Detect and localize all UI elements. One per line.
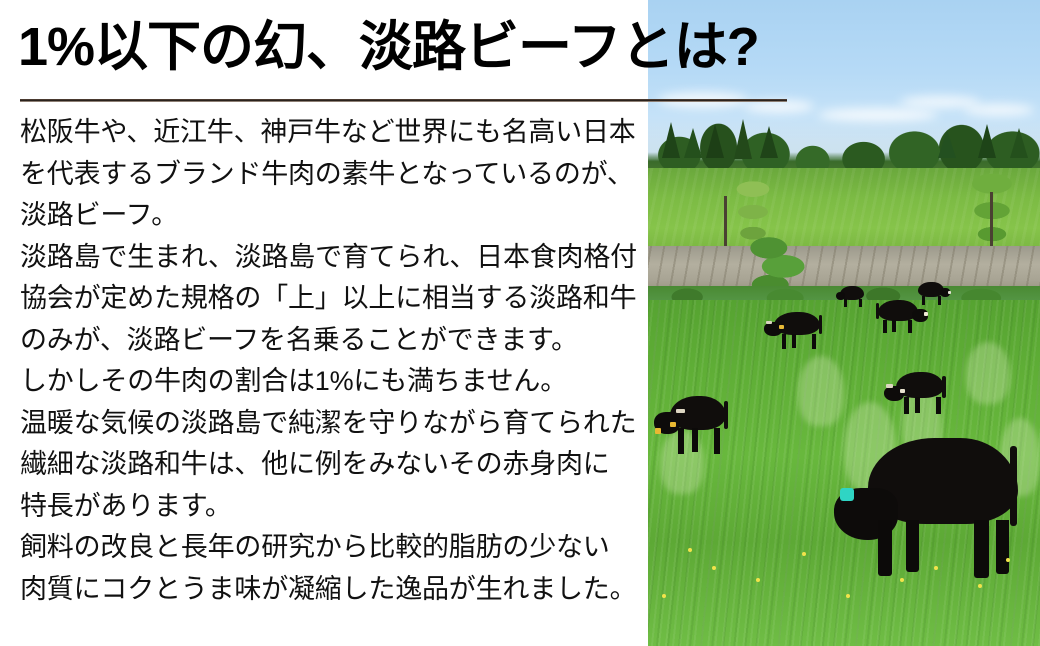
body-copy: 松阪牛や、近江牛、神戸牛など世界にも名高い日本 を代表するブランド牛肉の素牛とな… — [20, 112, 640, 610]
cow — [654, 396, 732, 458]
flower-icon — [900, 578, 904, 582]
body-line: 肉質にコクとうま味が凝縮した逸品が生れました。 — [20, 569, 640, 611]
grass-tussock — [966, 342, 1010, 404]
flower-icon — [934, 566, 938, 570]
body-line: 飼料の改良と長年の研究から比較的脂肪の少ない — [20, 527, 640, 569]
page-title: 1%以下の幻、淡路ビーフとは? — [18, 16, 759, 78]
flower-icon — [1006, 558, 1010, 562]
promo-page: 1%以下の幻、淡路ビーフとは? 松阪牛や、近江牛、神戸牛など世界にも名高い日本 … — [0, 0, 1040, 646]
conifer-icon — [1010, 128, 1028, 158]
cow — [884, 372, 948, 416]
conifer-icon — [760, 126, 778, 158]
body-line: 淡路ビーフ。 — [20, 195, 640, 237]
flower-icon — [688, 548, 692, 552]
conifer-icon — [978, 124, 996, 158]
cow — [764, 312, 826, 350]
body-line: 淡路島で生まれ、淡路島で育てられ、日本食肉格付 — [20, 237, 640, 279]
body-line: 特長があります。 — [20, 486, 640, 528]
pasture-photo — [648, 0, 1040, 646]
cow — [876, 300, 930, 334]
cow-foreground — [834, 438, 1028, 580]
flower-icon — [662, 594, 666, 598]
flower-icon — [802, 552, 806, 556]
body-line: 温暖な気候の淡路島で純潔を守りながら育てられた — [20, 403, 640, 445]
flower-icon — [756, 578, 760, 582]
flower-icon — [846, 594, 850, 598]
body-line: のみが、淡路ビーフを名乗ることができます。 — [20, 320, 640, 362]
cloud-icon — [964, 104, 1034, 116]
ear-tag-icon — [840, 488, 854, 501]
conifer-icon — [684, 128, 702, 158]
flower-icon — [712, 566, 716, 570]
cow — [836, 286, 866, 308]
conifer-icon — [706, 124, 724, 158]
body-line: 協会が定めた規格の「上」以上に相当する淡路和牛 — [20, 278, 640, 320]
flower-icon — [978, 584, 982, 588]
conifer-icon — [734, 119, 752, 159]
title-divider — [20, 99, 787, 102]
body-line: 松阪牛や、近江牛、神戸牛など世界にも名高い日本 — [20, 112, 640, 154]
body-line: しかしその牛肉の割合は1%にも満ちません。 — [20, 361, 640, 403]
conifer-icon — [662, 122, 680, 158]
body-line: を代表するブランド牛肉の素牛となっているのが、 — [20, 154, 640, 196]
grass-tussock — [798, 356, 844, 426]
conifer-icon — [938, 130, 956, 158]
body-line: 繊細な淡路和牛は、他に例をみないその赤身肉に — [20, 444, 640, 486]
